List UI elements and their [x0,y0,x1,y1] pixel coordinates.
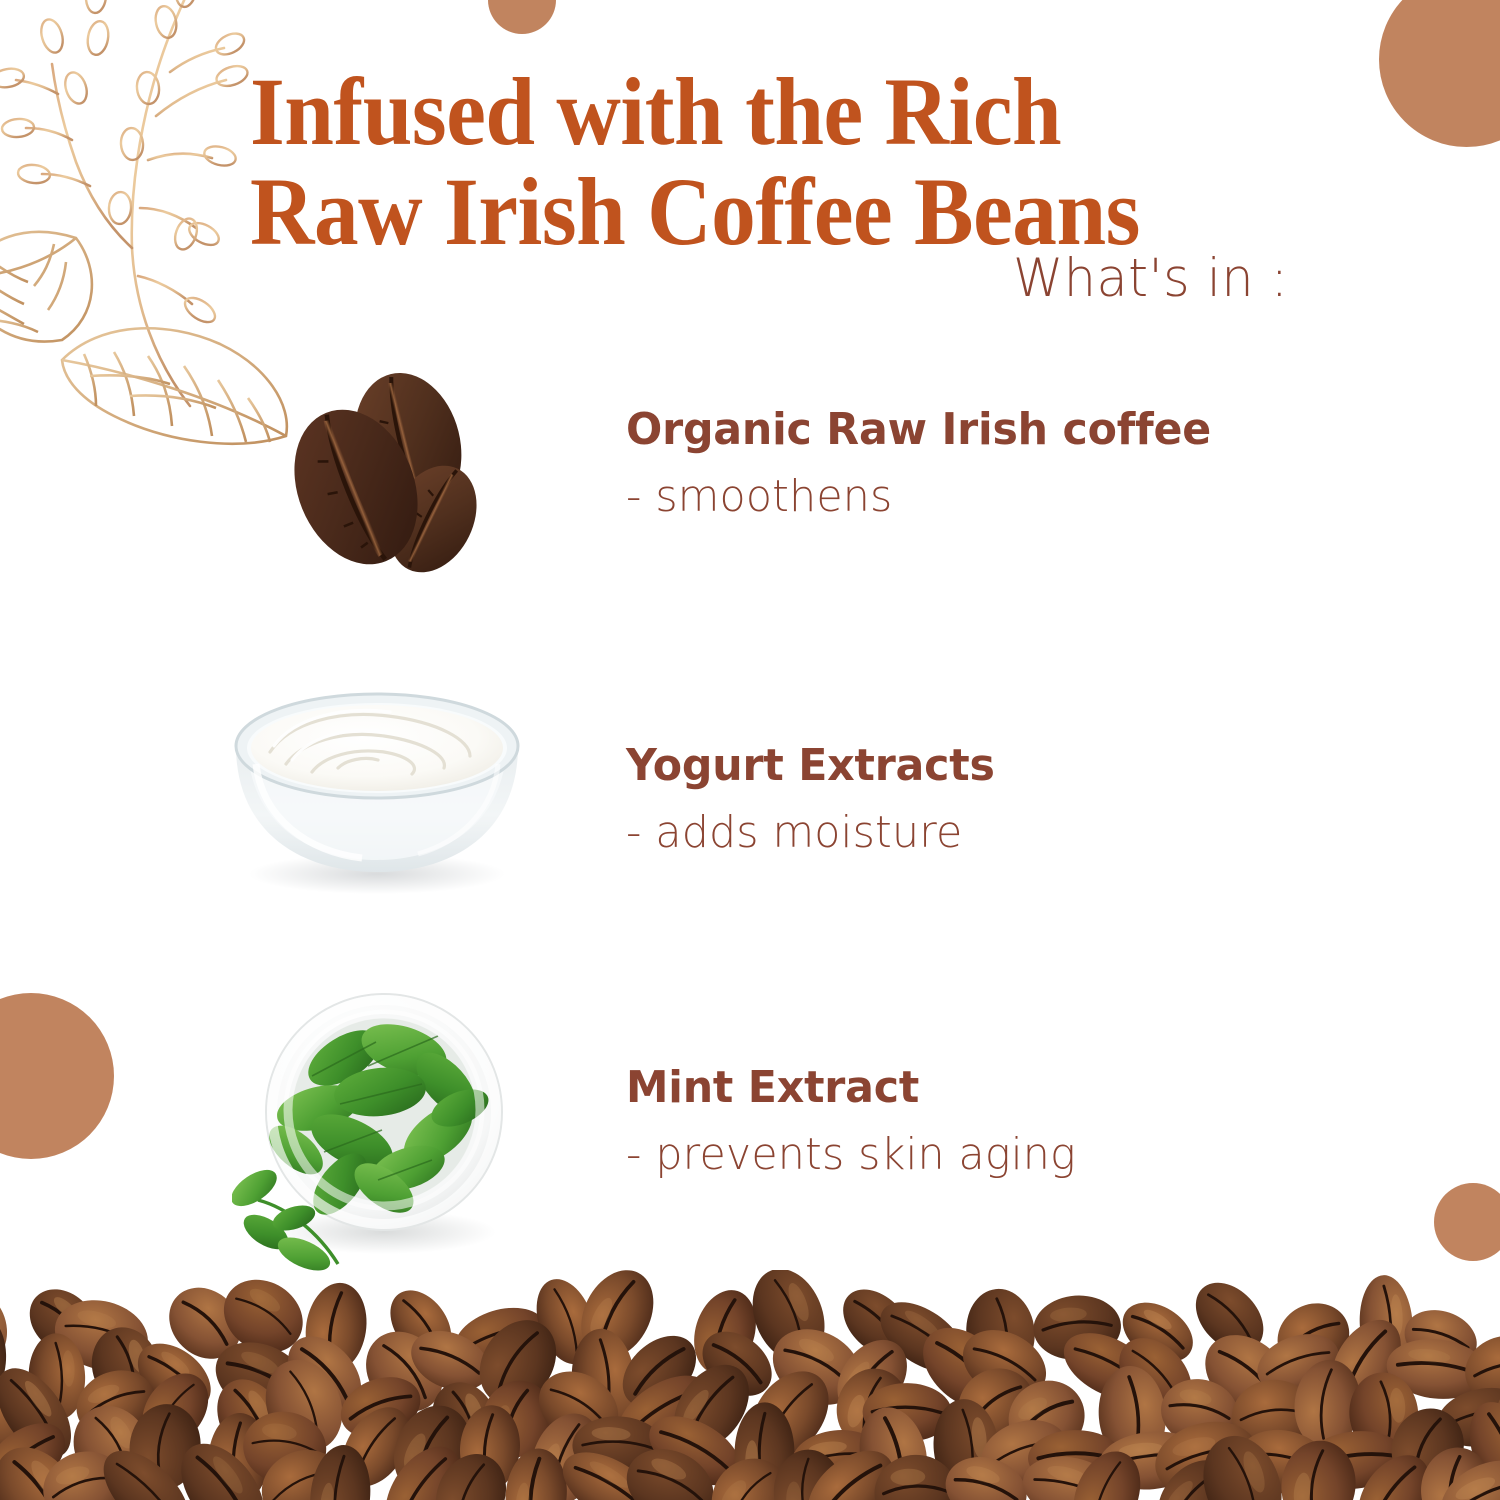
ingredient-name: Organic Raw Irish coffee [626,404,1211,455]
ingredient-text-yogurt: Yogurt Extracts - adds moisture [626,740,1006,858]
yogurt-bowl-photo-icon [212,660,542,905]
mint-leaves-bowl-photo-icon [232,992,542,1292]
circle-bottom-right [1434,1183,1500,1261]
ingredient-text-coffee: Organic Raw Irish coffee - smoothens [626,404,1229,522]
circle-top-small [488,0,556,34]
title-line-1: Infused with the Rich [250,62,1245,162]
ingredient-benefit: - adds moisture [626,807,995,858]
title-line-2: Raw Irish Coffee Beans [250,162,1245,262]
roasted-coffee-beans-band [0,1270,1500,1500]
subtitle-whats-in: What's in : [1013,248,1288,309]
page-title: Infused with the Rich Raw Irish Coffee B… [250,62,1245,262]
ingredient-benefit: - smoothens [626,471,1211,522]
ingredient-name: Yogurt Extracts [626,740,995,791]
coffee-beans-illustration-icon [258,369,518,584]
ingredient-name: Mint Extract [626,1062,1076,1113]
product-ingredient-infographic: Infused with the Rich Raw Irish Coffee B… [0,0,1500,1500]
ingredient-text-mint: Mint Extract - prevents skin aging [626,1062,1090,1180]
circle-top-right [1379,0,1500,147]
ingredient-benefit: - prevents skin aging [626,1129,1076,1180]
circle-left [0,993,114,1159]
